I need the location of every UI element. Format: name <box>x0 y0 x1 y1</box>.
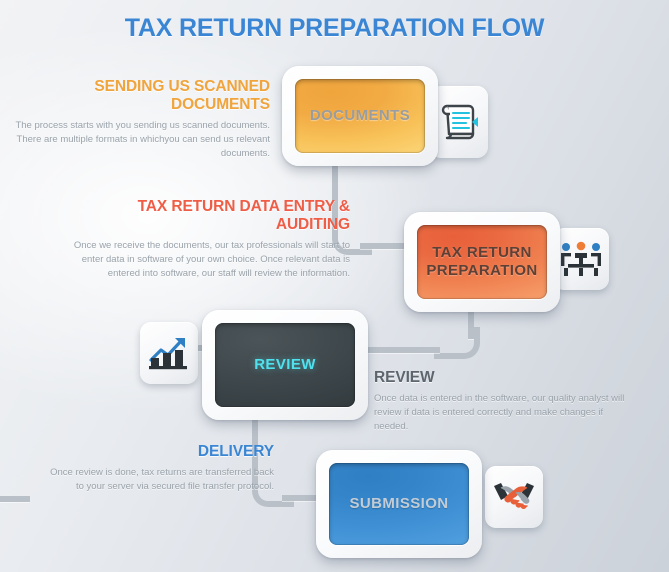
card-review[interactable]: REVIEW <box>202 310 368 420</box>
text-block-sending-documents: SENDING US SCANNED DOCUMENTS The process… <box>14 78 270 161</box>
body-delivery: Once review is done, tax returns are tra… <box>42 466 274 494</box>
scroll-document-icon <box>439 100 479 144</box>
card-review-label: REVIEW <box>254 356 316 374</box>
team-org-chart-badge <box>553 228 609 290</box>
team-org-chart-icon <box>560 239 602 279</box>
text-block-data-entry-auditing: TAX RETURN DATA ENTRY & AUDITING Once we… <box>60 198 350 281</box>
body-review: Once data is entered in the software, ou… <box>374 392 638 434</box>
heading-review: REVIEW <box>374 369 638 387</box>
card-review-screen: REVIEW <box>215 323 355 407</box>
card-tax-return-preparation-screen: TAX RETURN PREPARATION <box>417 225 547 299</box>
page-title: TAX RETURN PREPARATION FLOW <box>0 14 669 43</box>
bar-chart-growth-badge <box>140 322 198 384</box>
body-sending-documents: The process starts with you sending us s… <box>14 119 270 161</box>
connector-submission-left-stub <box>0 496 30 502</box>
heading-data-entry-auditing: TAX RETURN DATA ENTRY & AUDITING <box>60 198 350 234</box>
heading-delivery: DELIVERY <box>42 443 274 461</box>
text-block-review: REVIEW Once data is entered in the softw… <box>374 369 638 434</box>
card-tax-return-preparation[interactable]: TAX RETURN PREPARATION <box>404 212 560 312</box>
handshake-badge <box>485 466 543 528</box>
card-submission[interactable]: SUBMISSION <box>316 450 482 558</box>
bar-chart-growth-icon <box>148 333 190 373</box>
card-documents[interactable]: DOCUMENTS <box>282 66 438 166</box>
card-tax-return-preparation-label: TAX RETURN PREPARATION <box>417 244 547 279</box>
scroll-document-badge <box>430 86 488 158</box>
card-documents-label: DOCUMENTS <box>310 107 410 125</box>
heading-sending-documents: SENDING US SCANNED DOCUMENTS <box>14 78 270 114</box>
text-block-delivery: DELIVERY Once review is done, tax return… <box>42 443 274 494</box>
connector-preparation-elbow <box>434 327 480 359</box>
card-submission-label: SUBMISSION <box>349 495 448 513</box>
card-submission-screen: SUBMISSION <box>329 463 469 545</box>
connector-preparation-horizontal <box>368 347 440 353</box>
handshake-icon <box>492 480 536 514</box>
infographic-canvas: TAX RETURN PREPARATION FLOW <box>0 0 669 572</box>
card-documents-screen: DOCUMENTS <box>295 79 425 153</box>
body-data-entry-auditing: Once we receive the documents, our tax p… <box>60 239 350 281</box>
